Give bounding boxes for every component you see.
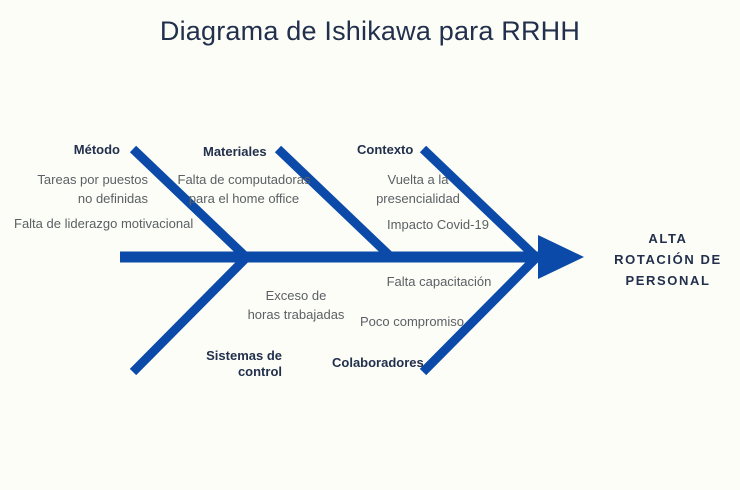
ishikawa-diagram-canvas: Diagrama de Ishikawa para RRHH Método Ta…: [0, 0, 740, 490]
branch-label-contexto: Contexto: [357, 142, 467, 158]
cause-metodo-2: Falta de liderazgo motivacional: [14, 214, 244, 233]
diagram-text-layer: Diagrama de Ishikawa para RRHH Método Ta…: [0, 0, 740, 490]
page-title: Diagrama de Ishikawa para RRHH: [100, 14, 640, 48]
branch-label-materiales: Materiales: [203, 144, 313, 160]
cause-colaboradores-1: Falta capacitación: [374, 272, 504, 291]
cause-contexto-2: Impacto Covid-19: [378, 215, 498, 234]
branch-label-sistemas-de-control: Sistemas de control: [170, 348, 282, 380]
cause-metodo-1: Tareas por puestos no definidas: [0, 170, 148, 208]
cause-colaboradores-2: Poco compromiso: [342, 312, 482, 331]
effect-label: ALTA ROTACIÓN DE PERSONAL: [598, 228, 738, 291]
branch-label-colaboradores: Colaboradores: [332, 355, 462, 371]
cause-materiales-1: Falta de computadoras para el home offic…: [172, 170, 316, 208]
branch-label-metodo: Método: [10, 142, 120, 158]
cause-sistemas-de-control-1: Exceso de horas trabajadas: [232, 286, 360, 324]
cause-contexto-1: Vuelta a la presencialidad: [358, 170, 478, 208]
